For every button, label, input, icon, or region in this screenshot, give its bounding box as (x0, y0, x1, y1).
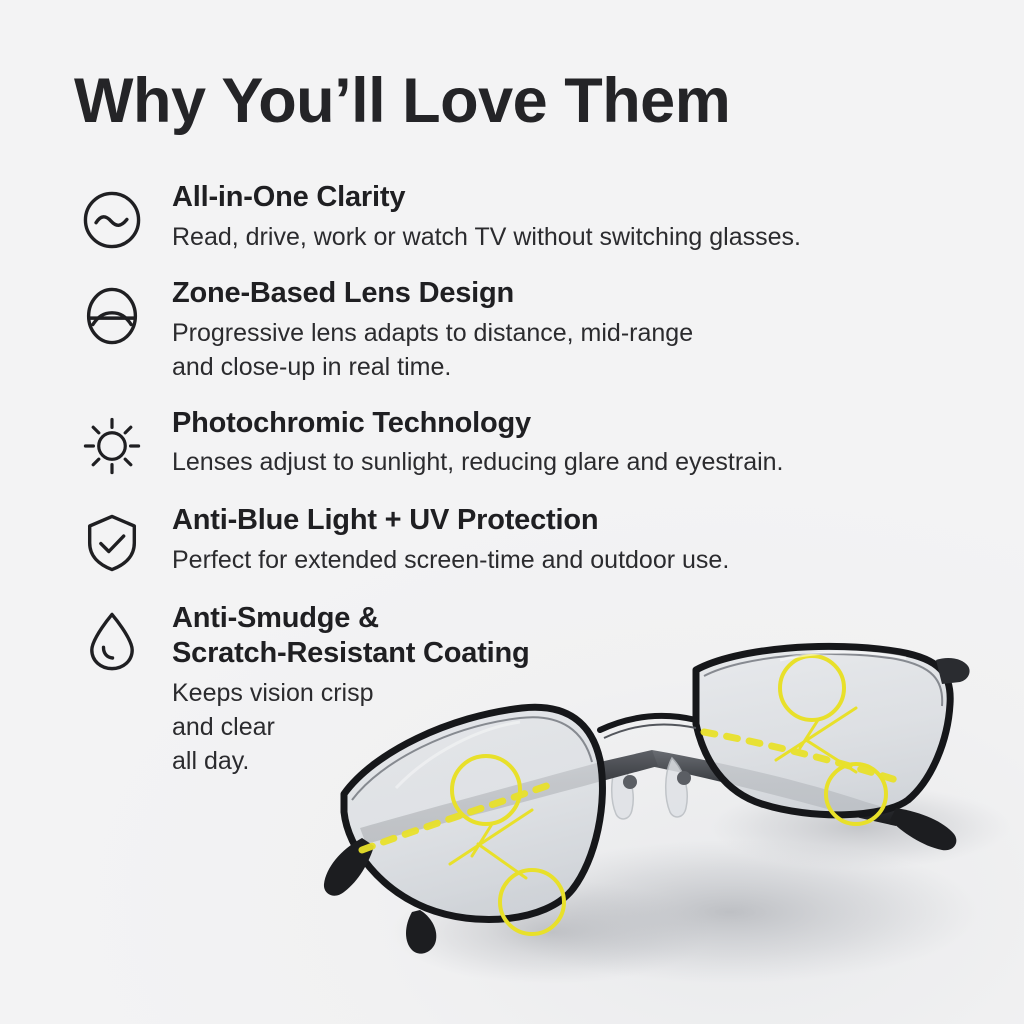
feature-title: Photochromic Technology (172, 406, 974, 441)
eyeglasses-photo (300, 612, 1024, 1024)
feature-item-anti-blue-light-uv-protection: Anti-Blue Light + UV Protection Perfect … (74, 503, 974, 577)
zone-lens-circle-icon (78, 282, 146, 350)
sun-icon (78, 412, 146, 480)
page-title: Why You’ll Love Them (74, 68, 730, 134)
feature-title: Zone-Based Lens Design (172, 276, 974, 311)
feature-title: All-in-One Clarity (172, 180, 974, 215)
feature-item-zone-based-lens-design: Zone-Based Lens Design Progressive lens … (74, 276, 974, 384)
water-droplet-icon (78, 607, 146, 675)
feature-item-all-in-one-clarity: All-in-One Clarity Read, drive, work or … (74, 180, 974, 254)
shield-check-icon (78, 509, 146, 577)
lens-wave-circle-icon (78, 186, 146, 254)
infographic-canvas: Why You’ll Love Them All-in-One Clarity … (0, 0, 1024, 1024)
feature-description: Perfect for extended screen-time and out… (172, 543, 974, 577)
feature-title: Anti-Blue Light + UV Protection (172, 503, 974, 538)
feature-description: Progressive lens adapts to distance, mid… (172, 316, 974, 384)
feature-description: Lenses adjust to sunlight, reducing glar… (172, 445, 974, 479)
feature-item-photochromic-technology: Photochromic Technology Lenses adjust to… (74, 406, 974, 480)
feature-description: Read, drive, work or watch TV without sw… (172, 220, 974, 254)
